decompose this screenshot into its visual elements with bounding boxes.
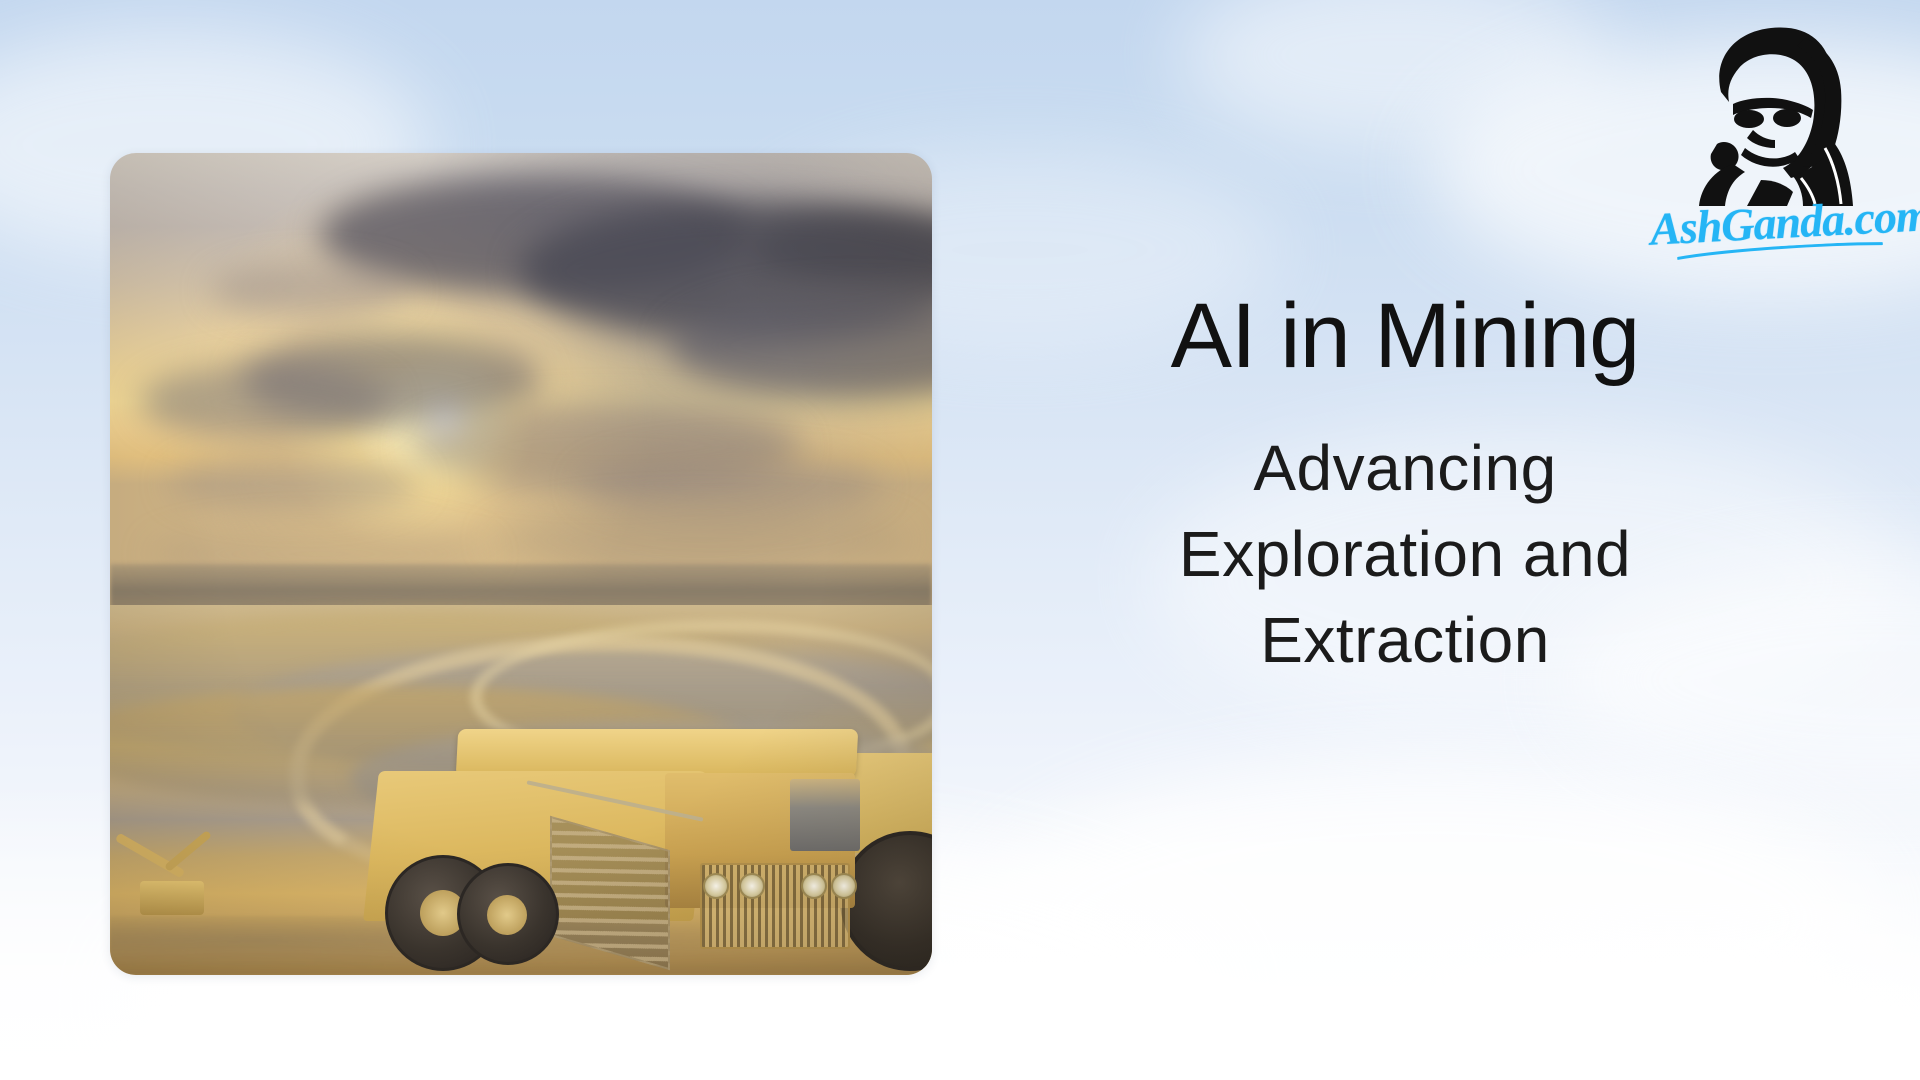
truck-wheel-hub — [487, 895, 527, 935]
subtitle-line-1: Advancing — [935, 426, 1875, 512]
excavator-vehicle — [120, 843, 230, 923]
photo-sky — [110, 153, 932, 613]
truck-headlight-icon — [831, 873, 857, 899]
photo-cloud — [140, 363, 390, 441]
subtitle-line-3: Extraction — [935, 598, 1875, 684]
page-subtitle: Advancing Exploration and Extraction — [935, 426, 1875, 683]
photo-cloud — [210, 263, 410, 317]
slide-text-column: AI in Mining Advancing Exploration and E… — [935, 290, 1875, 683]
mining-photo — [110, 153, 932, 975]
photo-cloud — [170, 453, 420, 513]
truck-headlight-icon — [801, 873, 827, 899]
subtitle-line-2: Exploration and — [935, 512, 1875, 598]
excavator-body — [140, 881, 204, 915]
truck-canopy — [456, 729, 859, 777]
truck-cab — [790, 779, 860, 851]
haul-truck — [365, 713, 885, 975]
slide-canvas: AI in Mining Advancing Exploration and E… — [0, 0, 1920, 1080]
page-title: AI in Mining — [935, 290, 1875, 382]
truck-headlight-icon — [739, 873, 765, 899]
portrait-icon — [1675, 18, 1875, 208]
mining-photo-card — [110, 153, 932, 975]
brand-logo[interactable]: AshGanda.com — [1655, 18, 1905, 268]
truck-headlight-icon — [703, 873, 729, 899]
